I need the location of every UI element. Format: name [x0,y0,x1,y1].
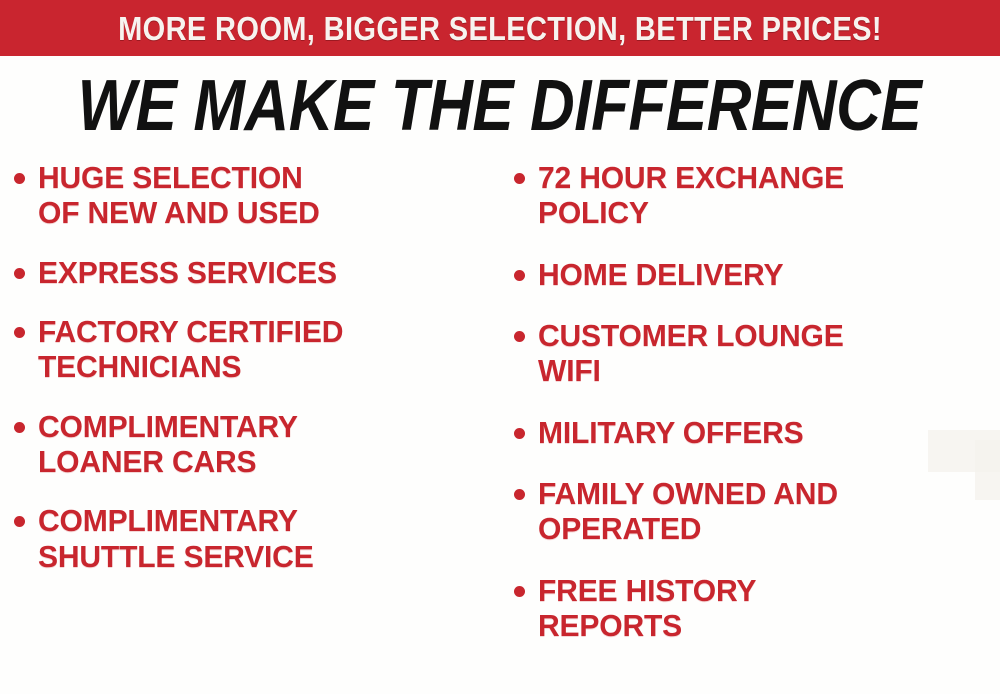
features-columns: HUGE SELECTION OF NEW AND USED EXPRESS S… [0,160,1000,694]
list-item-label: HOME DELIVERY [538,257,986,292]
bullet-dot-icon [514,489,525,500]
list-item: CUSTOMER LOUNGE WIFI [514,318,1000,389]
list-item: FAMILY OWNED AND OPERATED [514,476,1000,547]
list-item: 72 HOUR EXCHANGE POLICY [514,160,1000,231]
list-item: COMPLIMENTARY LOANER CARS [14,409,500,480]
bullet-dot-icon [14,422,25,433]
list-item-label: CUSTOMER LOUNGE WIFI [538,318,986,389]
bullet-dot-icon [14,173,25,184]
list-item-label: MILITARY OFFERS [538,415,986,450]
scan-artifact [975,440,1000,500]
list-item-label: COMPLIMENTARY SHUTTLE SERVICE [38,503,486,574]
list-item: EXPRESS SERVICES [14,255,500,290]
list-item: FACTORY CERTIFIED TECHNICIANS [14,314,500,385]
list-item-label: FREE HISTORY REPORTS [538,573,986,644]
main-headline-text: WE MAKE THE DIFFERENCE [78,70,922,142]
bullet-dot-icon [14,327,25,338]
list-item-label: EXPRESS SERVICES [38,255,486,290]
bullet-dot-icon [514,270,525,281]
list-item: HUGE SELECTION OF NEW AND USED [14,160,500,231]
list-item-label: COMPLIMENTARY LOANER CARS [38,409,486,480]
promotional-poster: MORE ROOM, BIGGER SELECTION, BETTER PRIC… [0,0,1000,694]
list-item-label: FAMILY OWNED AND OPERATED [538,476,986,547]
bullet-dot-icon [514,173,525,184]
list-item-label: 72 HOUR EXCHANGE POLICY [538,160,986,231]
list-item-label: FACTORY CERTIFIED TECHNICIANS [38,314,486,385]
list-item: HOME DELIVERY [514,257,1000,292]
bullet-dot-icon [14,516,25,527]
banner-headline-text: MORE ROOM, BIGGER SELECTION, BETTER PRIC… [60,0,940,56]
bullet-dot-icon [514,428,525,439]
list-item: COMPLIMENTARY SHUTTLE SERVICE [14,503,500,574]
list-item-label: HUGE SELECTION OF NEW AND USED [38,160,486,231]
list-item: FREE HISTORY REPORTS [514,573,1000,644]
features-column-right: 72 HOUR EXCHANGE POLICY HOME DELIVERY CU… [514,160,1000,694]
top-banner: MORE ROOM, BIGGER SELECTION, BETTER PRIC… [0,0,1000,56]
main-headline: WE MAKE THE DIFFERENCE [0,64,1000,148]
bullet-dot-icon [14,268,25,279]
bullet-dot-icon [514,331,525,342]
features-column-left: HUGE SELECTION OF NEW AND USED EXPRESS S… [14,160,500,694]
bullet-dot-icon [514,586,525,597]
